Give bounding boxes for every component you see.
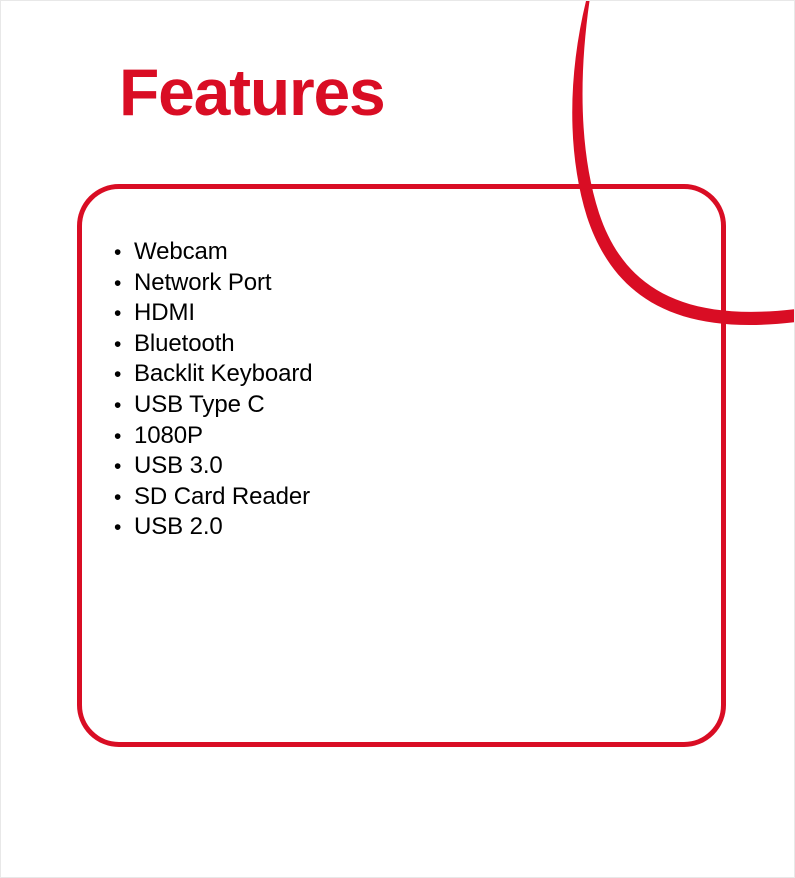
list-item: • HDMI <box>114 298 313 329</box>
bullet-icon: • <box>114 330 134 361</box>
list-item-label: HDMI <box>134 298 195 329</box>
list-item-label: USB 2.0 <box>134 512 223 543</box>
list-item-label: Bluetooth <box>134 329 235 360</box>
list-item: • USB 2.0 <box>114 512 313 543</box>
list-item: • USB 3.0 <box>114 451 313 482</box>
bullet-icon: • <box>114 238 134 269</box>
list-item: • Network Port <box>114 268 313 299</box>
list-item-label: Network Port <box>134 268 272 299</box>
bullet-icon: • <box>114 513 134 544</box>
list-item: • 1080P <box>114 421 313 452</box>
list-item-label: SD Card Reader <box>134 482 310 513</box>
bullet-icon: • <box>114 391 134 422</box>
list-item: • USB Type C <box>114 390 313 421</box>
feature-list: • Webcam • Network Port • HDMI • Bluetoo… <box>114 237 313 543</box>
list-item-label: 1080P <box>134 421 203 452</box>
list-item: • Backlit Keyboard <box>114 359 313 390</box>
bullet-icon: • <box>114 422 134 453</box>
bullet-icon: • <box>114 452 134 483</box>
list-item: • Webcam <box>114 237 313 268</box>
list-item-label: Webcam <box>134 237 228 268</box>
bullet-icon: • <box>114 269 134 300</box>
list-item-label: USB Type C <box>134 390 265 421</box>
list-item: • Bluetooth <box>114 329 313 360</box>
list-item-label: Backlit Keyboard <box>134 359 313 390</box>
bullet-icon: • <box>114 360 134 391</box>
bullet-icon: • <box>114 483 134 514</box>
slide-canvas: Features • Webcam • Network Port • HDMI … <box>0 0 795 878</box>
list-item-label: USB 3.0 <box>134 451 223 482</box>
bullet-icon: • <box>114 299 134 330</box>
page-title: Features <box>119 59 385 125</box>
list-item: • SD Card Reader <box>114 482 313 513</box>
